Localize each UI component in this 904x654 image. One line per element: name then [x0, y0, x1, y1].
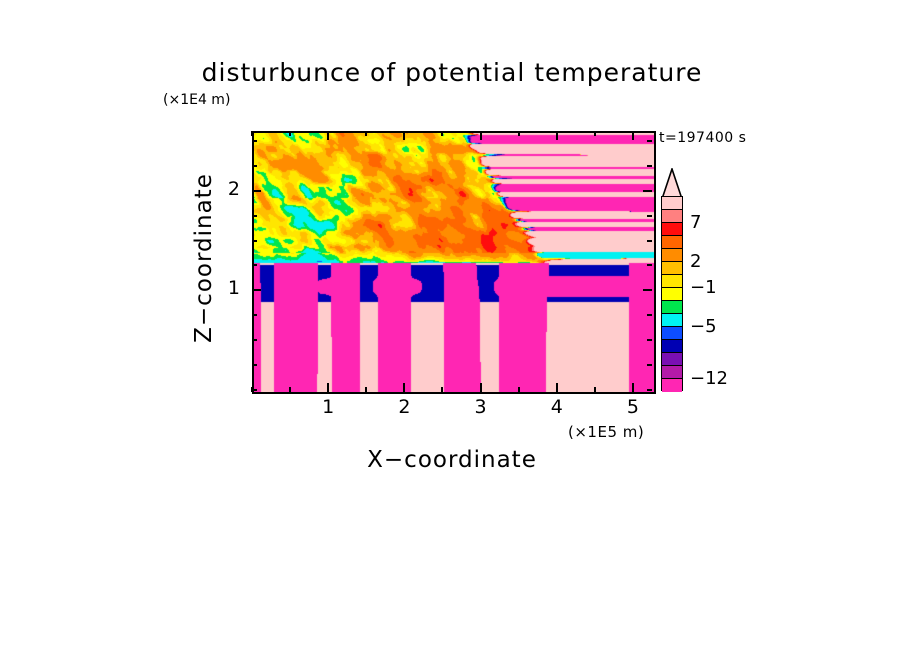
- colorbar-tick-label: −12: [690, 368, 728, 389]
- axis-tick: [252, 165, 257, 167]
- axis-tick: [289, 131, 291, 136]
- colorbar-band: [662, 236, 682, 249]
- axis-tick: [252, 215, 257, 217]
- x-tick-label: 4: [537, 396, 577, 418]
- axis-tick: [403, 383, 405, 392]
- colorbar-band: [662, 249, 682, 262]
- y-tick-label: 2: [210, 178, 240, 200]
- axis-tick: [327, 131, 329, 140]
- y-tick-label: 1: [210, 277, 240, 299]
- axis-tick: [365, 131, 367, 136]
- axis-tick: [556, 131, 558, 140]
- colorbar-band: [662, 262, 682, 275]
- y-axis-title: Z−coordinate: [191, 48, 217, 468]
- colorbar-band: [662, 210, 682, 223]
- axis-tick: [252, 289, 261, 291]
- x-axis-title: X−coordinate: [252, 447, 652, 473]
- x-tick-label: 2: [384, 396, 424, 418]
- axis-tick: [647, 165, 652, 167]
- plot-area: [252, 131, 656, 394]
- axis-tick: [518, 131, 520, 136]
- colorbar-tick-label: −1: [690, 277, 717, 298]
- colorbar-band: [662, 340, 682, 353]
- colorbar-tick-label: −5: [690, 316, 717, 337]
- axis-tick: [647, 364, 652, 366]
- figure-canvas: disturbunce of potential temperature (×1…: [0, 0, 904, 654]
- axis-tick: [252, 140, 257, 142]
- colorbar-band: [662, 314, 682, 327]
- colorbar-band: [662, 353, 682, 366]
- x-tick-label: 1: [308, 396, 348, 418]
- axis-tick: [518, 387, 520, 392]
- axis-tick: [647, 240, 652, 242]
- axis-tick: [252, 389, 257, 391]
- colorbar-band: [662, 223, 682, 236]
- axis-tick: [643, 190, 652, 192]
- x-tick-label: 3: [461, 396, 501, 418]
- axis-tick: [252, 264, 257, 266]
- colorbar-band: [662, 366, 682, 379]
- axis-tick: [647, 314, 652, 316]
- axis-tick: [252, 314, 257, 316]
- axis-tick: [251, 131, 253, 136]
- colorbar-band: [662, 288, 682, 301]
- axis-tick: [252, 240, 257, 242]
- axis-tick: [632, 131, 634, 140]
- colorbar-tick-label: 7: [690, 212, 701, 233]
- colorbar-band: [662, 197, 682, 210]
- axis-tick: [647, 339, 652, 341]
- axis-tick: [327, 383, 329, 392]
- axis-tick: [594, 387, 596, 392]
- colorbar-tick-label: 2: [690, 251, 701, 272]
- axis-tick: [403, 131, 405, 140]
- axis-tick: [289, 387, 291, 392]
- colorbar-band: [662, 301, 682, 314]
- colorbar-band: [662, 379, 682, 392]
- colorbar-band: [662, 327, 682, 340]
- axis-tick: [252, 190, 261, 192]
- colorbar-band: [662, 275, 682, 288]
- axis-tick: [441, 131, 443, 136]
- axis-tick: [647, 389, 652, 391]
- axis-tick: [252, 339, 257, 341]
- axis-tick: [643, 289, 652, 291]
- x-tick-label: 5: [613, 396, 653, 418]
- axis-tick: [480, 131, 482, 140]
- axis-tick: [365, 387, 367, 392]
- page-title: disturbunce of potential temperature: [0, 58, 904, 87]
- contour-field: [254, 133, 654, 392]
- axis-tick: [556, 383, 558, 392]
- axis-tick: [252, 364, 257, 366]
- axis-tick: [594, 131, 596, 136]
- axis-tick: [647, 140, 652, 142]
- axis-tick: [441, 387, 443, 392]
- axis-tick: [647, 264, 652, 266]
- axis-tick: [480, 383, 482, 392]
- axis-tick: [632, 383, 634, 392]
- x-unit-label: (×1E5 m): [568, 423, 644, 441]
- timestamp-annotation: t=197400 s: [659, 130, 746, 146]
- colorbar: [661, 196, 683, 391]
- axis-tick: [647, 215, 652, 217]
